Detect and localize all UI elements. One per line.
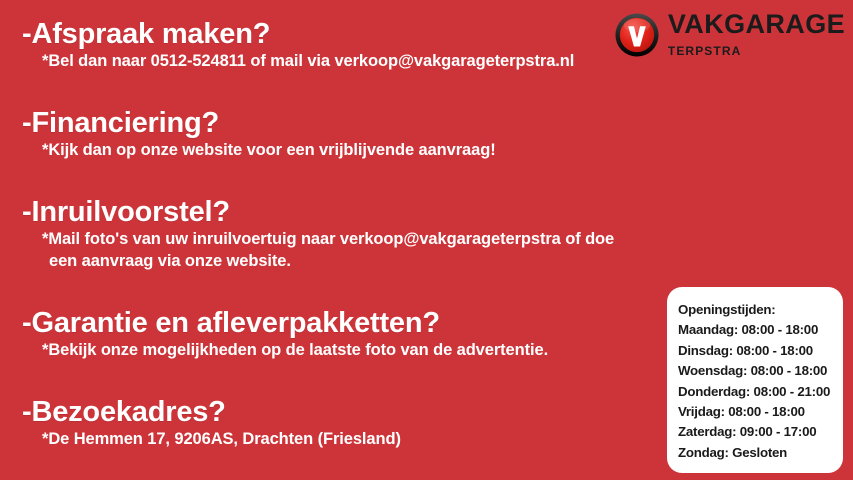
vakgarage-v-emblem-icon — [615, 13, 659, 57]
section-heading: -Bezoekadres? — [22, 397, 401, 427]
section-heading: -Financiering? — [22, 108, 496, 138]
opening-hours-title: Openingstijden: — [678, 300, 843, 320]
section-line: *Kijk dan op onze website voor een vrijb… — [42, 140, 496, 161]
logo-wordmark: VAKGARAGE Terpstra — [668, 11, 845, 59]
opening-hours-row-zaterdag: Zaterdag: 09:00 - 17:00 — [678, 422, 843, 442]
section-financiering: -Financiering? *Kijk dan op onze website… — [22, 108, 496, 162]
section-bezoekadres: -Bezoekadres? *De Hemmen 17, 9206AS, Dra… — [22, 397, 401, 451]
section-afspraak-maken: -Afspraak maken? *Bel dan naar 0512-5248… — [22, 19, 574, 73]
section-lines: *De Hemmen 17, 9206AS, Drachten (Friesla… — [42, 429, 401, 450]
section-line: een aanvraag via onze website. — [42, 251, 614, 272]
opening-hours-row-dinsdag: Dinsdag: 08:00 - 18:00 — [678, 341, 843, 361]
opening-hours-card: Openingstijden: Maandag: 08:00 - 18:00 D… — [667, 287, 843, 473]
logo-dealer-name: Terpstra — [668, 42, 845, 59]
opening-hours-row-zondag: Zondag: Gesloten — [678, 443, 843, 463]
opening-hours-row-maandag: Maandag: 08:00 - 18:00 — [678, 320, 843, 340]
section-lines: *Kijk dan op onze website voor een vrijb… — [42, 140, 496, 161]
opening-hours-row-woensdag: Woensdag: 08:00 - 18:00 — [678, 361, 843, 381]
section-line: *Bel dan naar 0512-524811 of mail via ve… — [42, 51, 574, 72]
section-heading: -Inruilvoorstel? — [22, 197, 614, 227]
section-line: *Mail foto's van uw inruilvoertuig naar … — [42, 229, 614, 250]
logo-brand-name: VAKGARAGE — [668, 11, 845, 38]
section-line: *Bekijk onze mogelijkheden op de laatste… — [42, 340, 548, 361]
section-lines: *Bel dan naar 0512-524811 of mail via ve… — [42, 51, 574, 72]
section-line: *De Hemmen 17, 9206AS, Drachten (Friesla… — [42, 429, 401, 450]
vakgarage-logo: VAKGARAGE Terpstra — [615, 11, 845, 59]
opening-hours-row-donderdag: Donderdag: 08:00 - 21:00 — [678, 382, 843, 402]
opening-hours-row-vrijdag: Vrijdag: 08:00 - 18:00 — [678, 402, 843, 422]
section-lines: *Bekijk onze mogelijkheden op de laatste… — [42, 340, 548, 361]
section-heading: -Garantie en afleverpakketten? — [22, 308, 548, 338]
section-heading: -Afspraak maken? — [22, 19, 574, 49]
section-lines: *Mail foto's van uw inruilvoertuig naar … — [42, 229, 614, 271]
section-garantie-en-afleverpakketten: -Garantie en afleverpakketten? *Bekijk o… — [22, 308, 548, 362]
section-inruilvoorstel: -Inruilvoorstel? *Mail foto's van uw inr… — [22, 197, 614, 272]
